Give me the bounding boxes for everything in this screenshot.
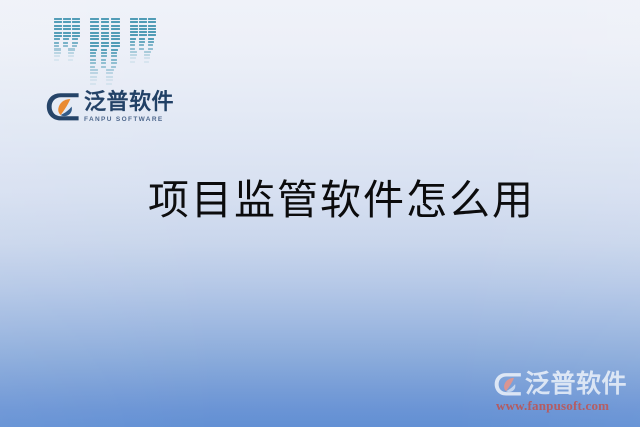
building-pixel [90,59,96,61]
building-pixel [144,51,151,53]
building-pixel [111,21,120,23]
building-pixel [111,38,120,40]
site-watermark: 泛普软件 www.fanpusoft.com [494,369,634,421]
building-pixel [90,66,95,68]
building-pixel [101,52,107,54]
building-pixel [72,28,80,30]
building-pixel [72,32,80,34]
building-pixel [72,21,80,23]
building-pixel [63,25,71,27]
building-pixel [63,42,68,44]
pixel-buildings-icon [54,18,158,88]
building-pixel [90,45,99,47]
building-pixel [111,55,117,57]
building-pixel [111,49,118,51]
building-pixel [63,45,68,47]
building-pixel [144,57,150,59]
building-pixel [130,44,135,46]
building-pixel [90,52,96,54]
building-pixel [139,28,147,30]
watermark-name: 泛普软件 [525,371,627,398]
building-pixel [90,83,96,85]
building-pixel [90,28,99,30]
building-pixel [101,66,106,68]
building-pixel [106,79,113,81]
building-pixel [72,18,80,20]
building-pixel [144,61,149,63]
building-pixel [63,38,69,40]
logo-name-cn: 泛普软件 [84,90,168,114]
building-pixel [90,72,98,74]
building-pixel [101,32,110,34]
building-pixel [101,42,110,44]
building-pixel [54,32,62,34]
building-pixel [101,55,107,57]
building-pixel [148,28,156,30]
center-tower [90,18,120,86]
watermark-brand: 泛普软件 [494,371,627,398]
building-pixel [63,35,71,37]
building-pixel [139,38,145,40]
page-title: 项目监管软件怎么用 [148,172,535,228]
building-pixel [90,76,97,78]
building-pixel [139,48,144,50]
building-pixel [148,21,156,23]
building-pixel [111,42,120,44]
building-pixel [139,34,147,36]
building-pixel [54,48,61,50]
building-pixel [130,34,138,36]
building-pixel [63,21,71,23]
watermark-url: www.fanpusoft.com [496,398,609,413]
building-pixel [139,41,144,43]
building-pixel [90,35,99,37]
building-pixel [72,42,77,44]
building-pixel [148,38,154,40]
building-pixel [90,49,97,51]
building-pixel [63,18,71,20]
building-pixel [148,18,156,20]
building-pixel [72,25,80,27]
building-pixel [139,21,147,23]
building-pixel [101,59,107,61]
right-tower [130,18,156,64]
building-pixel [111,66,116,68]
building-pixel [130,41,135,43]
building-pixel [90,79,97,81]
building-pixel [130,28,138,30]
building-pixel [130,48,135,50]
logo-wordmark: 泛普软件 FANPU SOFTWARE [84,90,168,124]
building-pixel [130,21,138,23]
building-pixel [54,25,62,27]
building-pixel [90,55,96,57]
building-pixel [63,28,71,30]
building-pixel [90,18,99,20]
building-pixel [101,62,107,64]
building-pixel [139,18,147,20]
building-pixel [90,25,99,27]
building-pixel [130,31,138,33]
building-pixel [139,25,147,27]
building-pixel [111,18,120,20]
building-pixel [111,45,120,47]
building-pixel [111,28,120,30]
building-pixel [101,25,110,27]
building-pixel [68,52,75,54]
building-pixel [111,59,117,61]
building-pixel [54,18,62,20]
building-pixel [68,59,73,61]
building-pixel [148,48,153,50]
building-pixel [68,55,74,57]
building-pixel [148,41,153,43]
building-pixel [148,25,156,27]
building-pixel [54,21,62,23]
building-pixel [90,32,99,34]
building-pixel [101,21,110,23]
building-pixel [90,42,99,44]
building-pixel [101,35,110,37]
building-pixel [72,45,77,47]
building-pixel [72,38,78,40]
building-pixel [139,31,147,33]
building-pixel [90,62,96,64]
building-pixel [101,49,108,51]
building-pixel [148,31,156,33]
building-pixel [148,44,153,46]
building-pixel [101,18,110,20]
fanpu-logo[interactable]: 泛普软件 FANPU SOFTWARE [40,18,168,136]
building-pixel [72,35,80,37]
building-pixel [54,28,62,30]
building-pixel [130,54,137,56]
building-pixel [106,83,112,85]
building-pixel [54,35,62,37]
building-pixel [90,21,99,23]
building-pixel [106,69,114,71]
building-pixel [54,42,59,44]
building-pixel [111,32,120,34]
logo-name-en: FANPU SOFTWARE [84,115,168,124]
building-pixel [130,57,136,59]
building-pixel [111,25,120,27]
building-pixel [148,34,156,36]
building-pixel [111,35,120,37]
building-pixel [130,25,138,27]
promo-banner: 泛普软件 FANPU SOFTWARE 项目监管软件怎么用 泛普软件 www.f… [0,0,640,427]
building-pixel [139,44,144,46]
building-pixel [54,38,60,40]
building-pixel [54,59,59,61]
building-pixel [101,45,110,47]
building-pixel [101,38,110,40]
building-pixel [54,52,61,54]
building-pixel [54,45,59,47]
building-pixel [106,72,114,74]
building-pixel [111,52,117,54]
building-pixel [111,62,117,64]
building-pixel [90,69,98,71]
fanpu-swoosh-icon [46,92,80,122]
building-pixel [130,18,138,20]
building-pixel [106,76,113,78]
building-pixel [130,61,135,63]
building-pixel [63,32,71,34]
building-pixel [101,28,110,30]
building-pixel [130,51,137,53]
building-pixel [68,48,75,50]
building-pixel [144,54,151,56]
fanpu-swoosh-icon [494,372,522,397]
building-pixel [54,55,60,57]
building-pixel [130,38,136,40]
left-tower [54,18,80,62]
building-pixel [90,38,99,40]
